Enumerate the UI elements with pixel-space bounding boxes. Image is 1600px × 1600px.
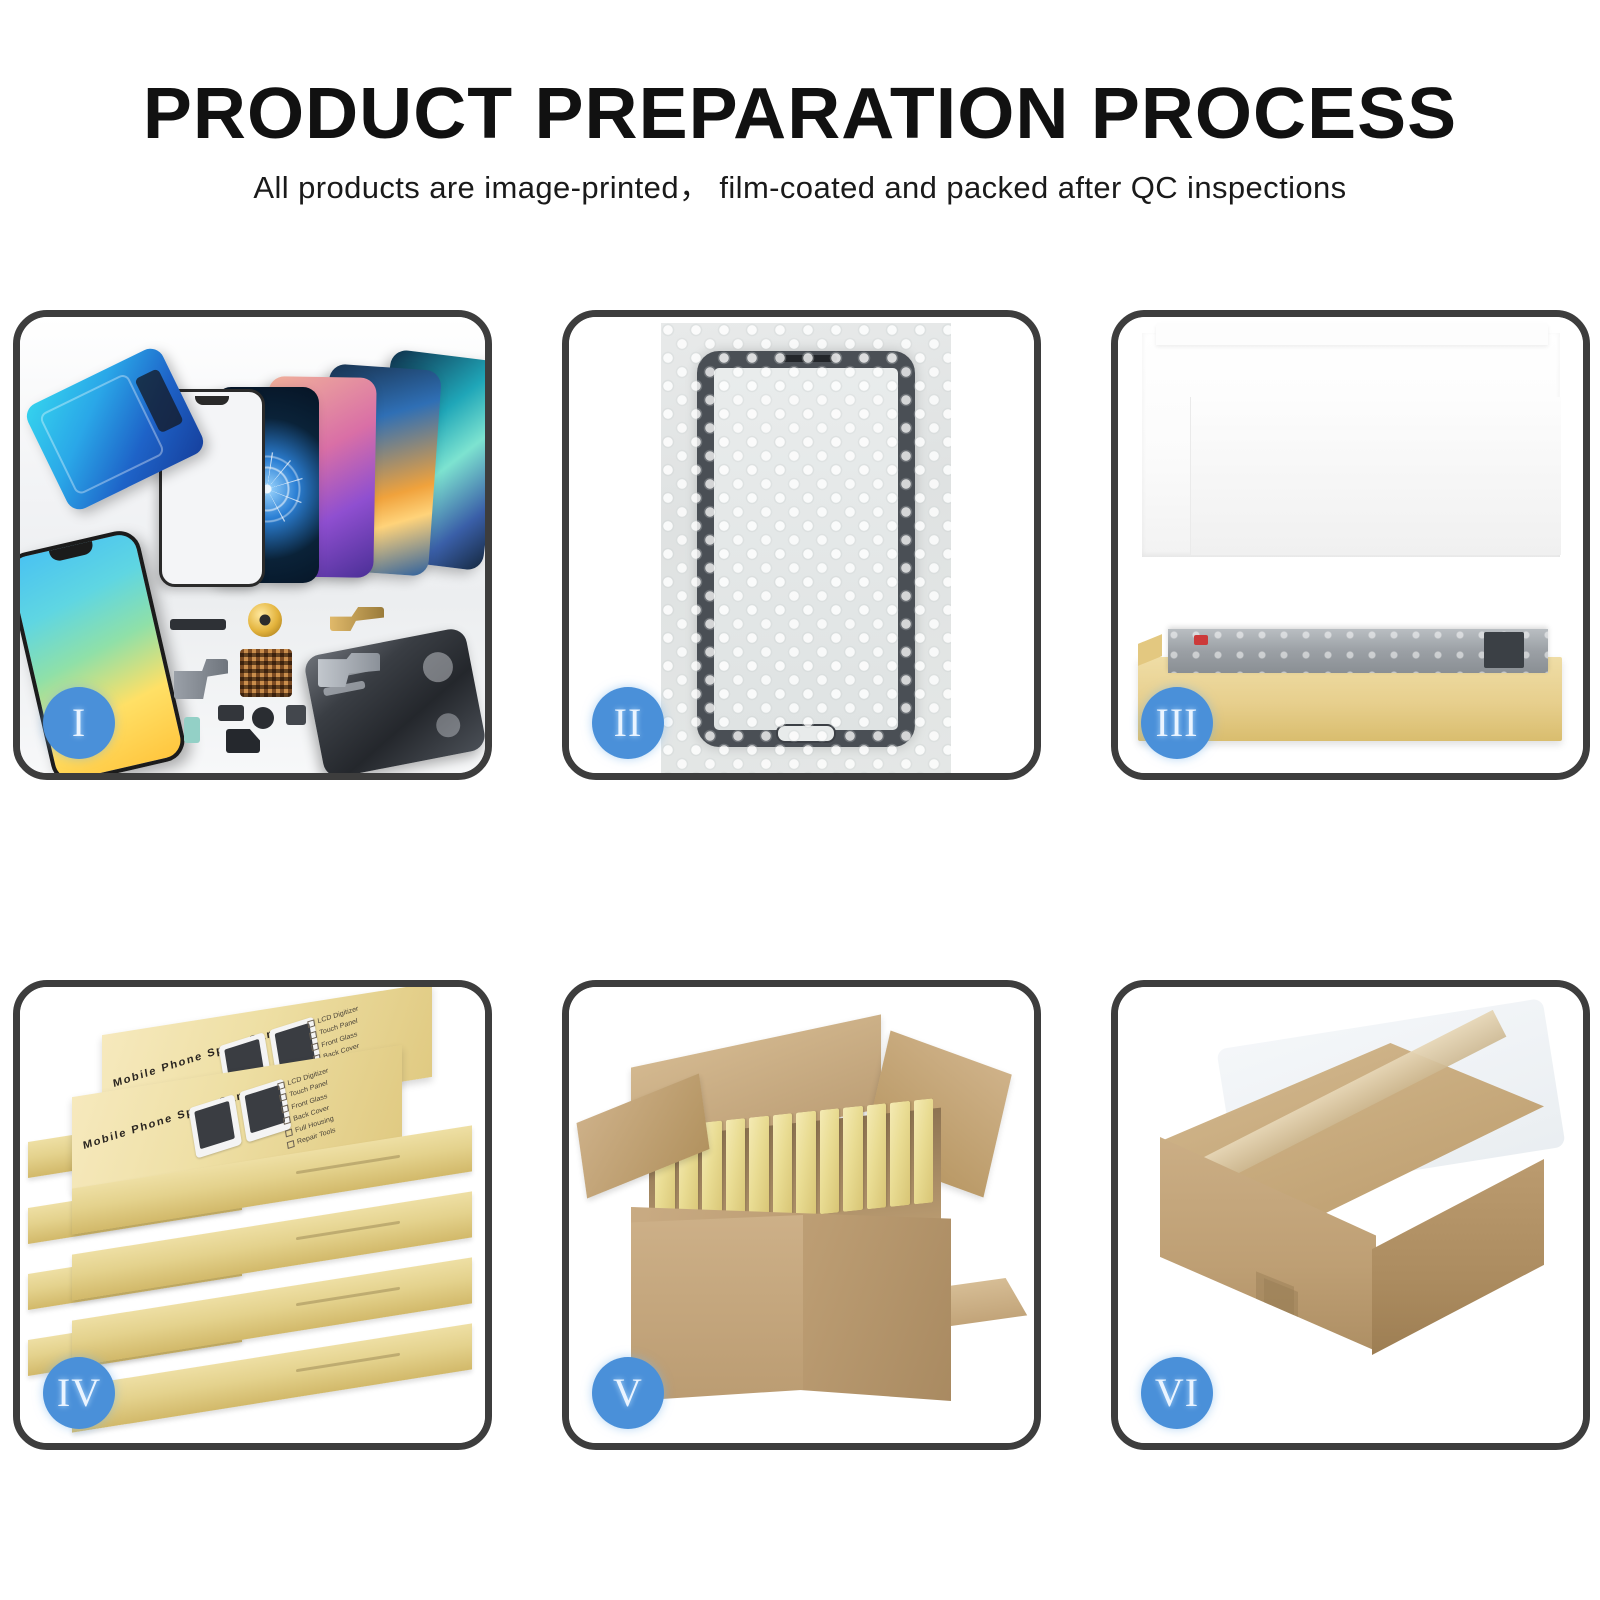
- sealed-shipping-carton: [1154, 1029, 1550, 1395]
- process-steps-grid: I II: [13, 310, 1590, 1450]
- carton-right-face: [1372, 1159, 1544, 1355]
- connector-bar-icon: [170, 619, 226, 630]
- ic-chip-icon: [240, 649, 292, 697]
- page-title: PRODUCT PREPARATION PROCESS: [0, 78, 1600, 150]
- flex-cable-right-icon: [318, 653, 380, 687]
- bubble-texture-icon: [661, 323, 951, 775]
- spare-parts-cluster: [160, 601, 390, 763]
- lcd-connector-icon: [1484, 632, 1524, 668]
- mailer-lid-inner-face: [1190, 397, 1561, 555]
- camera-module-icon: [226, 729, 260, 753]
- bubble-wrap-sheet: [661, 323, 951, 775]
- step-badge-5: V: [592, 1357, 664, 1429]
- page-subtitle: All products are image-printed， film-coa…: [0, 172, 1600, 203]
- mailer-box-lid: [1142, 333, 1560, 557]
- step-panel-3[interactable]: III: [1111, 310, 1590, 780]
- phone-lineup-graphic: [149, 351, 479, 581]
- taptic-speaker-icon: [248, 603, 282, 637]
- small-part-1-icon: [218, 705, 244, 721]
- step-badge-2: II: [592, 687, 664, 759]
- retail-box-checklist-2: LCD Digitizer Touch Panel Front Glass Ba…: [277, 1048, 395, 1153]
- step-panel-5[interactable]: V: [562, 980, 1041, 1450]
- flex-cable-left-icon: [174, 659, 228, 699]
- wrapped-lcd-screen-icon: [1168, 629, 1548, 673]
- step-panel-6[interactable]: VI: [1111, 980, 1590, 1450]
- red-tab-icon: [1194, 635, 1208, 645]
- page-header: PRODUCT PREPARATION PROCESS All products…: [0, 0, 1600, 250]
- step-badge-1: I: [43, 687, 115, 759]
- step-panel-4[interactable]: Mobile Phone Spare Parts LCD Digitizer T…: [13, 980, 492, 1450]
- small-part-3-icon: [286, 705, 306, 725]
- step-badge-3: III: [1141, 687, 1213, 759]
- step-badge-4: IV: [43, 1357, 115, 1429]
- sim-tray-icon: [184, 717, 200, 743]
- step-badge-6: VI: [1141, 1357, 1213, 1429]
- step-panel-1[interactable]: I: [13, 310, 492, 780]
- flex-cable-top-icon: [330, 607, 384, 631]
- step-panel-2[interactable]: II: [562, 310, 1041, 780]
- open-shipping-carton: [593, 1017, 1011, 1403]
- small-part-2-icon: [252, 707, 274, 729]
